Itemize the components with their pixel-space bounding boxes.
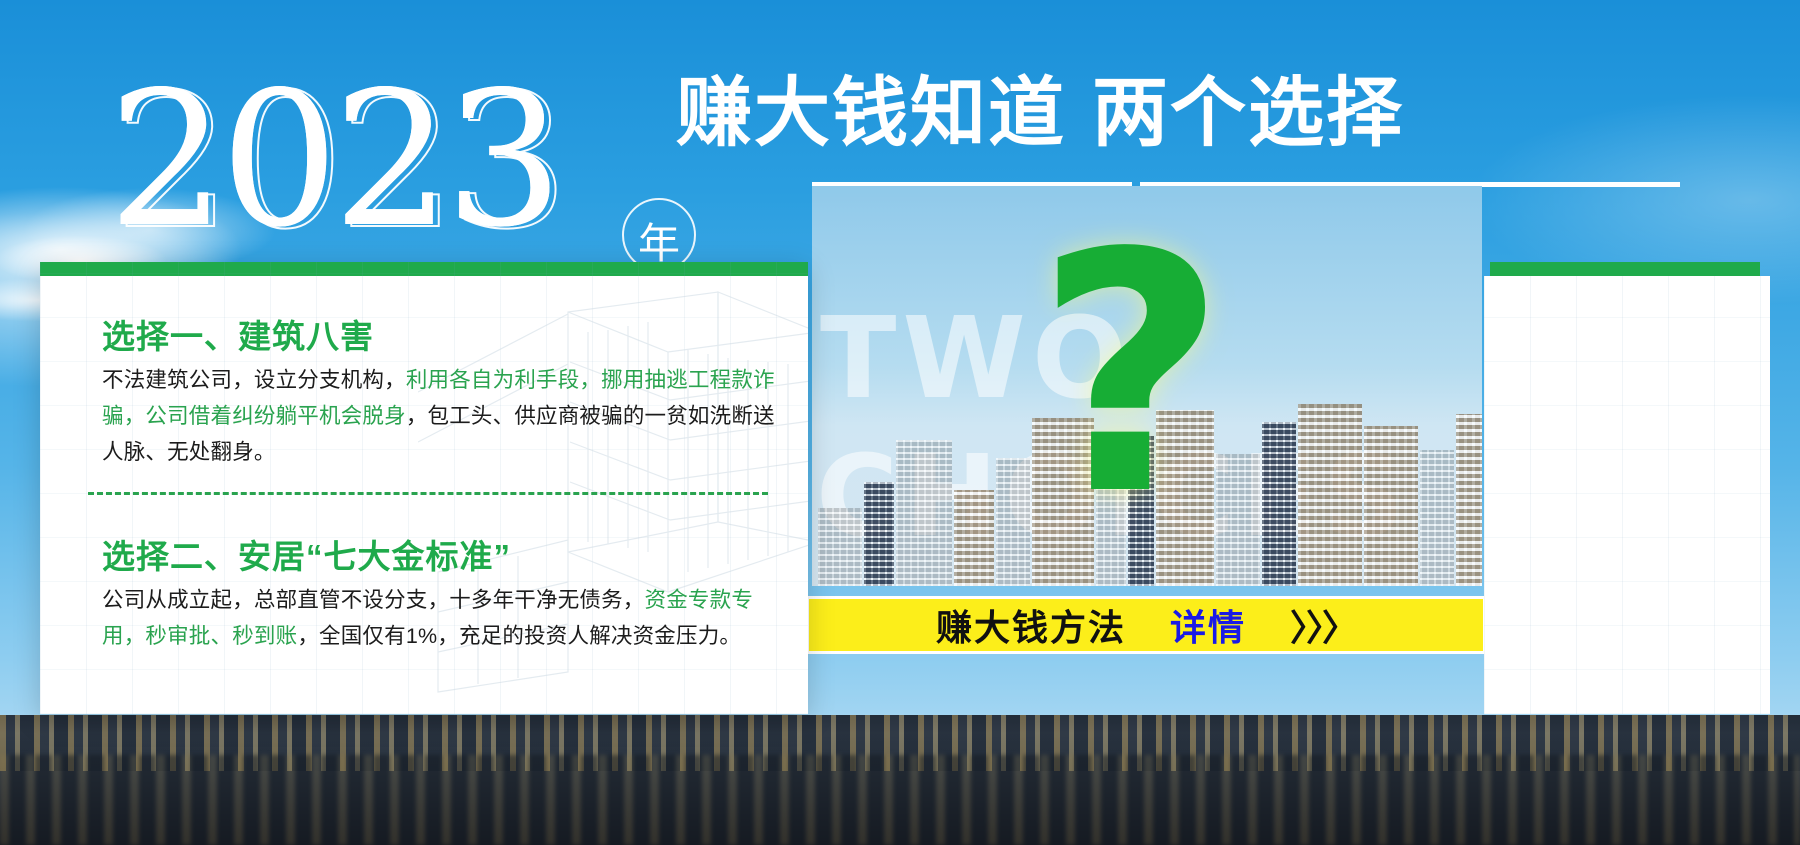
cta-detail-link[interactable]: 详情	[1170, 599, 1246, 651]
section-one-body: 不法建筑公司，设立分支机构，利用各自为利手段，挪用抽逃工程款诈骗，公司借着纠纷躺…	[102, 362, 782, 470]
right-green-rule	[1490, 262, 1760, 276]
skyline-illustration	[812, 396, 1482, 586]
blueprint-texture-right	[1484, 276, 1770, 714]
year-suffix-circle	[622, 198, 696, 272]
cta-banner[interactable]: 赚大钱方法 详情 〉〉〉	[806, 596, 1486, 654]
content-card: 选择一、建筑八害 不法建筑公司，设立分支机构，利用各自为利手段，挪用抽逃工程款诈…	[40, 262, 808, 714]
headline-part-2: 两个选择	[1092, 71, 1404, 156]
bottom-photo-strip	[0, 715, 1800, 845]
section-two-title: 选择二、安居“七大金标准”	[102, 530, 511, 578]
poster-canvas: 2023 2023 年 赚大钱知道两个选择 TWO CHOICES	[0, 0, 1800, 845]
year-outline-ghost: 2023	[114, 64, 563, 260]
year-numerals: 2023	[108, 62, 557, 258]
run-black-4: ，全国仅有1%，充足的投资人解决资金压力。	[297, 624, 741, 648]
card-top-accent-bar	[40, 262, 808, 276]
section-one-title: 选择一、建筑八害	[102, 310, 374, 358]
page-title: 赚大钱知道两个选择	[676, 66, 1404, 162]
year-badge: 2023 2023 年	[108, 62, 688, 262]
city-photo-panel: TWO CHOICES	[812, 186, 1482, 586]
section-two-body: 公司从成立起，总部直管不设分支，十多年干净无债务，资金专款专用，秒审批、秒到账，…	[102, 582, 782, 654]
run-black-3: 公司从成立起，总部直管不设分支，十多年干净无债务，	[102, 588, 645, 612]
chevron-right-icon: 〉〉〉	[1290, 599, 1356, 651]
right-white-panel	[1484, 276, 1770, 714]
cta-main-label: 赚大钱方法	[936, 599, 1126, 651]
headline-part-1: 赚大钱知道	[676, 71, 1066, 156]
run-black-1: 不法建筑公司，设立分支机构，	[102, 368, 406, 392]
section-divider	[88, 492, 768, 495]
